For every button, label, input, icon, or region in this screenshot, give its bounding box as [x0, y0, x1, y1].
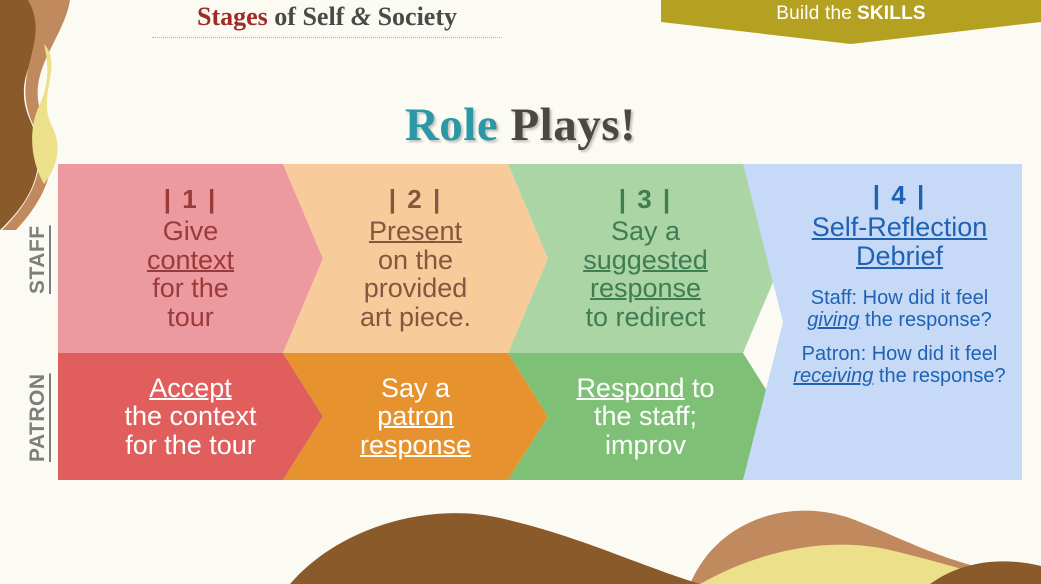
patron-step-3-line3: improv — [576, 431, 714, 460]
patron-step-3-line1b: to — [685, 373, 715, 403]
staff-step-1-line2: context — [147, 245, 234, 275]
staff-step-1-line3: for the — [147, 274, 234, 303]
eyebrow-title-society: Society — [371, 2, 457, 31]
staff-step-3-cell[interactable]: | 3 | Say a suggested response to redire… — [508, 164, 783, 353]
patron-step-2-line3: response — [360, 430, 471, 460]
page-title-plays: Plays! — [498, 99, 636, 151]
slide-canvas: Stages of Self & Society Build the SKILL… — [0, 0, 1041, 584]
step-4-patron-question-suffix: the response? — [873, 365, 1005, 387]
patron-step-3-cell[interactable]: Respond to the staff; improv — [508, 353, 783, 480]
build-the-skills-banner: Build the SKILLS — [661, 0, 1041, 44]
patron-step-3-line2: the staff; — [576, 402, 714, 431]
step-4-title-line1: Self-Reflection — [812, 212, 988, 242]
step-4-staff-question: Staff: How did it feel giving the respon… — [787, 287, 1012, 332]
decorative-bottom-hills — [0, 474, 1041, 584]
staff-step-3-line1: Say a — [583, 217, 708, 246]
staff-step-1-cell[interactable]: | 1 | Give context for the tour — [58, 164, 323, 353]
page-eyebrow-title: Stages of Self & Society — [152, 2, 502, 38]
staff-step-2-line2: on the — [360, 246, 471, 275]
patron-step-1-line2: the context — [124, 402, 256, 431]
step-4-patron-question-emphasis: receiving — [793, 365, 873, 387]
step-4-patron-question: Patron: How did it feel receiving the re… — [787, 343, 1012, 388]
staff-step-3-line3: response — [590, 273, 701, 303]
banner-prefix-label: Build the — [776, 3, 852, 25]
step-4-staff-question-prefix: Staff: How did it feel — [811, 287, 989, 309]
row-label-staff: STAFF — [26, 200, 50, 320]
step-4-staff-question-emphasis: giving — [807, 309, 859, 331]
step-4-patron-question-prefix: Patron: How did it feel — [802, 343, 998, 365]
staff-step-1-line1: Give — [147, 217, 234, 246]
patron-step-2-line2: patron — [377, 401, 454, 431]
patron-step-1-line3: for the tour — [124, 431, 256, 460]
patron-step-2-line1: Say a — [360, 374, 471, 403]
process-table: | 1 | Give context for the tour | 2 | Pr… — [58, 164, 1022, 480]
eyebrow-title-of-self: of Self — [268, 2, 351, 31]
page-title: Role Plays! — [0, 98, 1041, 152]
staff-step-2-line4: art piece. — [360, 303, 471, 332]
patron-step-1-cell[interactable]: Accept the context for the tour — [58, 353, 323, 480]
staff-step-1-line4: tour — [147, 303, 234, 332]
eyebrow-title-ampersand: & — [351, 2, 371, 31]
staff-step-2-number: | 2 | — [360, 186, 471, 214]
step-4-title-line2: Debrief — [856, 241, 943, 271]
staff-step-3-line4: to redirect — [583, 303, 708, 332]
staff-step-2-line3: provided — [360, 274, 471, 303]
row-label-patron: PATRON — [26, 358, 50, 478]
patron-step-1-line1: Accept — [149, 373, 232, 403]
eyebrow-title-stages: Stages — [197, 2, 268, 31]
page-title-role: Role — [405, 99, 498, 151]
step-4-number: | 4 | — [873, 180, 926, 211]
staff-step-3-line2: suggested — [583, 245, 708, 275]
step-4-staff-question-suffix: the response? — [859, 309, 991, 331]
staff-step-2-line1: Present — [369, 216, 462, 246]
step-4-cell[interactable]: | 4 | Self-Reflection Debrief Staff: How… — [743, 164, 1022, 480]
banner-emphasis-label: SKILLS — [857, 3, 926, 25]
patron-step-3-line1: Respond — [576, 373, 684, 403]
staff-step-1-number: | 1 | — [147, 186, 234, 214]
staff-step-3-number: | 3 | — [583, 186, 708, 214]
